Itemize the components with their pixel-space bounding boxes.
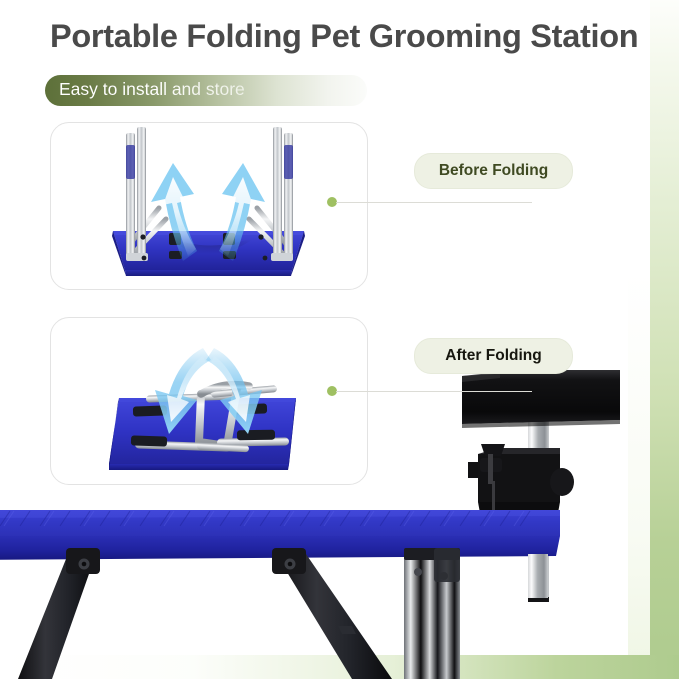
silver-pole-lower: [528, 554, 548, 602]
black-grooming-arm: [462, 370, 620, 428]
grooming-table-folded-illustration: [51, 318, 367, 484]
chrome-leg-left: [126, 127, 148, 261]
connector-line: [336, 391, 532, 392]
product-infographic-page: Portable Folding Pet Grooming Station Ea…: [0, 0, 679, 679]
black-folding-leg-left: [18, 548, 100, 679]
callout-before-folding: Before Folding: [414, 153, 573, 189]
grooming-table-unfolded-illustration: [51, 123, 367, 289]
callout-after-folding-label: After Folding: [445, 347, 541, 365]
chrome-center-post: [404, 548, 460, 679]
connector-line: [336, 202, 532, 203]
subtitle-badge: Easy to install and store: [45, 75, 367, 106]
chrome-leg-right: [271, 127, 293, 261]
illustration-panel-before-folding: [50, 122, 368, 290]
subtitle-badge-label: Easy to install and store: [59, 79, 245, 100]
callout-before-folding-label: Before Folding: [439, 162, 548, 180]
callout-after-folding: After Folding: [414, 338, 573, 374]
connector-after-folding: [327, 386, 532, 396]
black-folding-leg-right: [272, 548, 392, 679]
page-title: Portable Folding Pet Grooming Station: [50, 18, 638, 55]
illustration-panel-after-folding: [50, 317, 368, 485]
connector-before-folding: [327, 197, 532, 207]
